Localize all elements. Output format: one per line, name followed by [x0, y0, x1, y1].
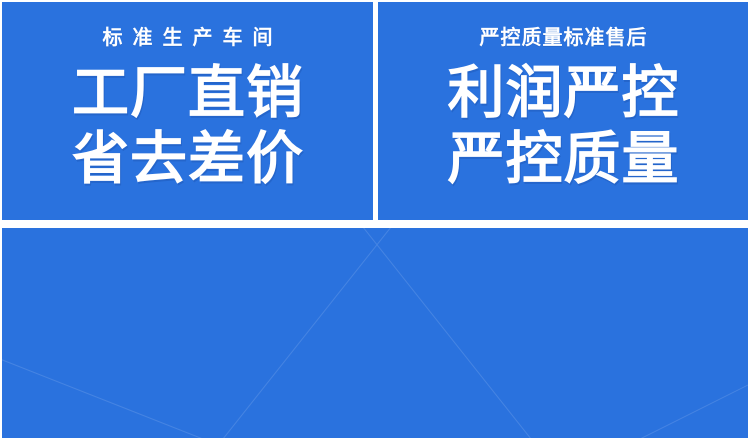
eyebrow-quality-aftersales: 严控质量标准售后 [479, 28, 648, 48]
eyebrow-standard-workshop: 标准生产车间 [93, 28, 283, 48]
promo-banner: 标准生产车间 工厂直销 省去差价 严控质量标准售后 利润严控 严控质量 [0, 0, 750, 440]
panel-factory-direct: 标准生产车间 工厂直销 省去差价 [2, 2, 373, 220]
panel-quality-control: 严控质量标准售后 利润严控 严控质量 [378, 2, 748, 220]
panel-details-advantages: 细节与优势 不怕货比，就怕不识货 [2, 228, 748, 438]
headline-factory-direct-line2: 省去差价 [71, 126, 304, 192]
panel-quality-control-content: 严控质量标准售后 利润严控 严控质量 [378, 2, 748, 220]
headline-quality-control-line1: 利润严控 [447, 60, 680, 126]
diagonal-watermark-lines [2, 228, 748, 438]
headline-factory-direct-line1: 工厂直销 [71, 60, 304, 126]
headline-quality-control-line2: 严控质量 [447, 126, 680, 192]
panel-factory-direct-content: 标准生产车间 工厂直销 省去差价 [2, 2, 373, 220]
